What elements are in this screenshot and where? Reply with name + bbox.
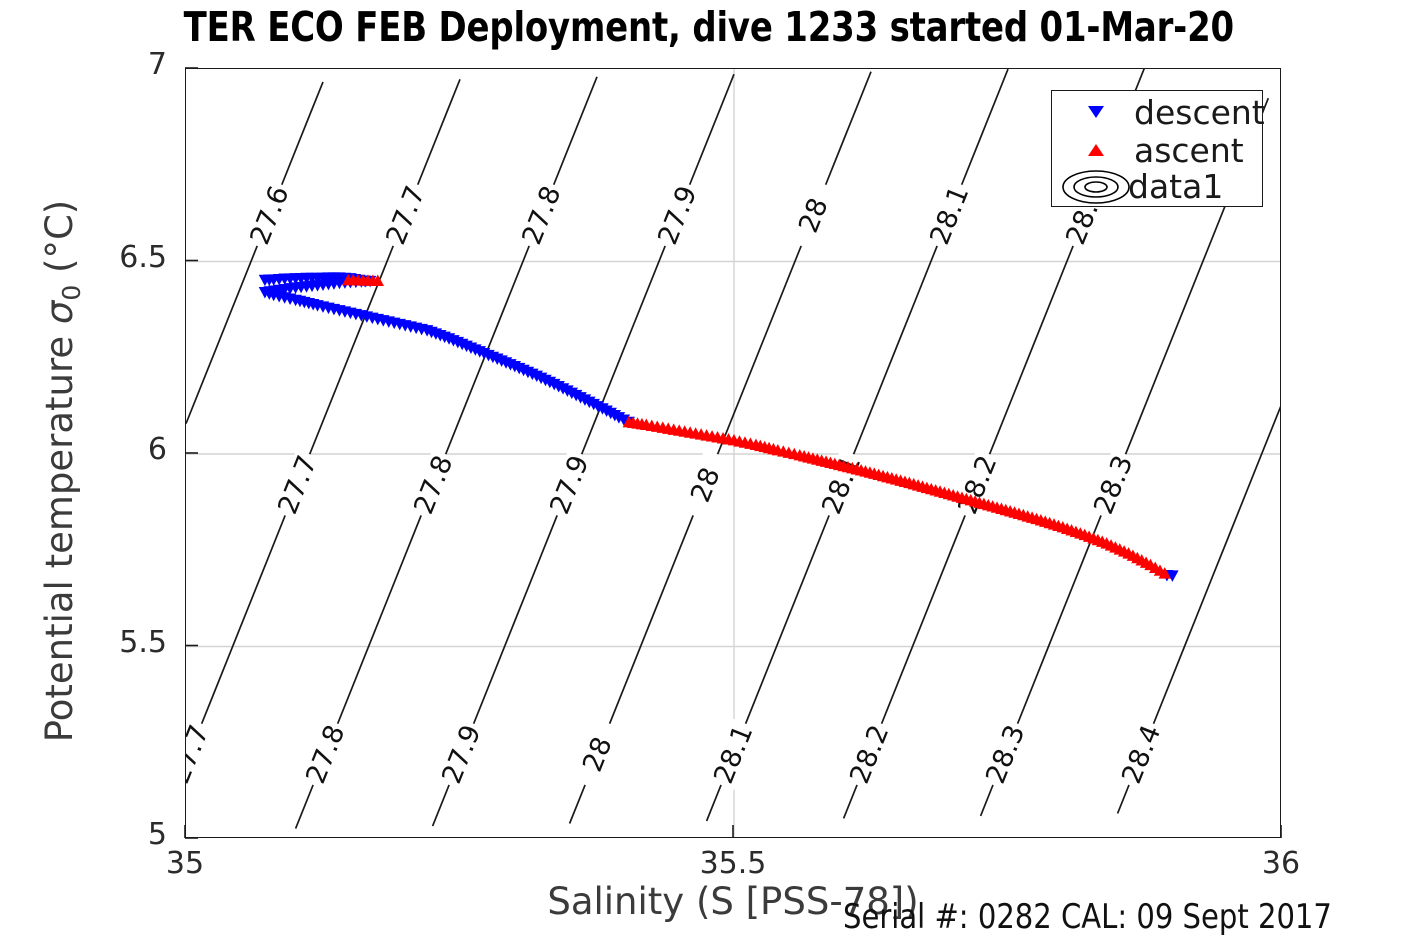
svg-text:28.4: 28.4 [1116,721,1167,788]
legend-item-data1[interactable]: data1 [1052,167,1264,206]
x-tick-label: 35.5 [693,846,773,881]
svg-text:27.7: 27.7 [272,451,323,518]
legend[interactable]: descent ascent data1 [1051,90,1263,207]
legend-label-descent: descent [1134,93,1265,132]
svg-text:27.6: 27.6 [244,182,295,249]
legend-item-descent[interactable]: descent [1052,93,1264,132]
svg-text:27.9: 27.9 [544,451,595,518]
contour-labels: 27.627.727.827.92828.128.227.727.827.928… [186,179,1168,791]
y-tick-label: 6.5 [89,240,167,275]
svg-text:27.7: 27.7 [380,182,431,249]
y-tick-label: 6 [89,432,167,467]
svg-text:27.9: 27.9 [652,182,703,249]
chart-title-text: TER ECO FEB Deployment, dive 1233 starte… [183,0,1233,54]
y-tick-label: 5.5 [89,625,167,660]
serial-annotation-text: Serial #: 0282 CAL: 09 Sept 2017 [843,897,1332,937]
svg-text:27.8: 27.8 [516,182,567,249]
x-tick-label: 35 [145,846,225,881]
y-axis-unit: (°C) [38,200,81,285]
svg-text:28.3: 28.3 [1088,451,1139,518]
svg-text:28.3: 28.3 [980,721,1031,788]
svg-text:27.9: 27.9 [436,721,487,788]
sigma-subscript: 0 [57,285,86,301]
series-descent [259,272,1179,581]
y-axis-label: Potential temperature σ0 (°C) [38,151,86,791]
svg-text:27.7: 27.7 [186,721,215,788]
x-tick-label: 36 [1241,846,1321,881]
legend-label-ascent: ascent [1134,131,1244,170]
triangle-up-icon [1060,131,1132,170]
triangle-down-icon [1060,93,1132,132]
svg-text:28.1: 28.1 [924,182,975,249]
y-axis-label-text: Potential temperature [38,324,81,742]
svg-text:28.2: 28.2 [844,721,895,788]
contour-rings-icon [1060,167,1132,206]
svg-text:27.8: 27.8 [408,451,459,518]
series-ascent [342,274,1171,579]
legend-item-ascent[interactable]: ascent [1052,131,1264,170]
y-tick-label: 7 [89,47,167,82]
tsdiagram-figure: TER ECO FEB Deployment, dive 1233 starte… [0,0,1417,945]
serial-annotation: Serial #: 0282 CAL: 09 Sept 2017 [843,897,1358,937]
sigma-symbol: σ [38,301,81,324]
chart-title: TER ECO FEB Deployment, dive 1233 starte… [0,0,1417,58]
svg-text:28.1: 28.1 [708,721,759,788]
svg-text:27.8: 27.8 [300,721,351,788]
legend-label-data1: data1 [1128,167,1223,206]
